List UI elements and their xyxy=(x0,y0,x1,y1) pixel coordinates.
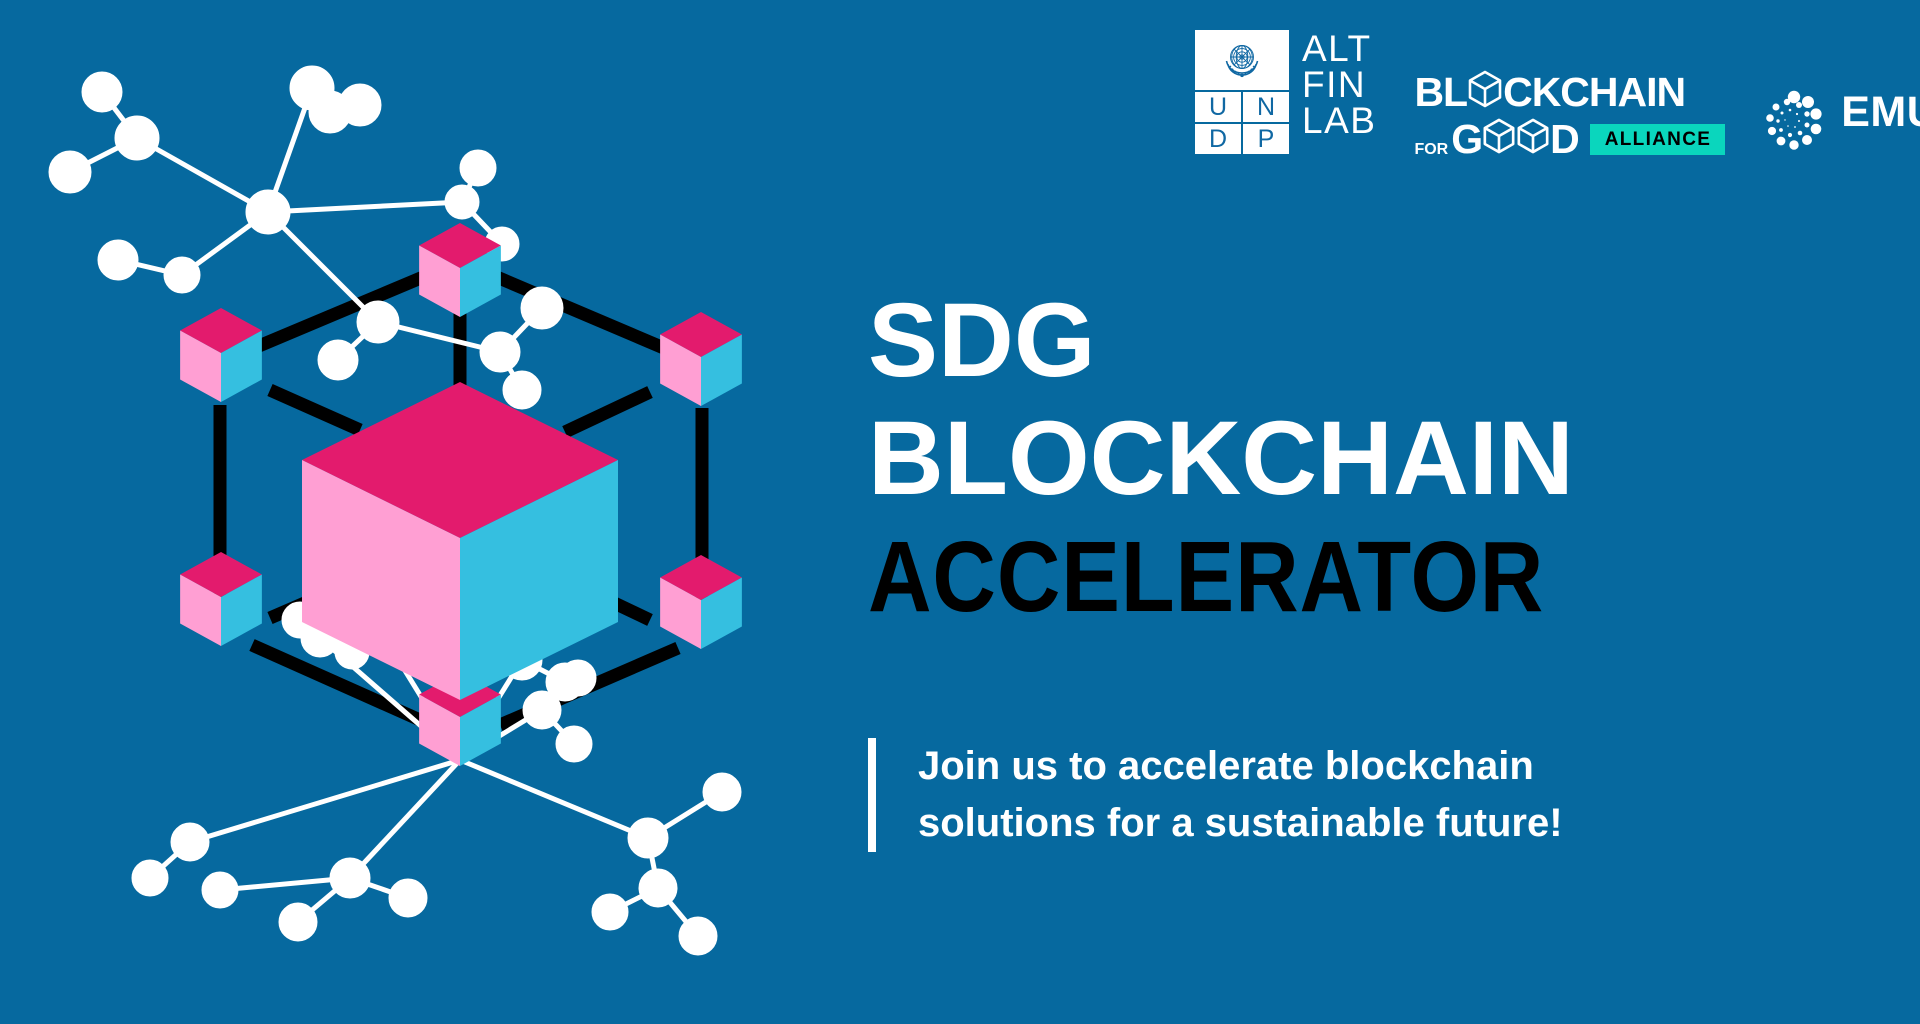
poster-canvas: U N D P ALT FIN LAB BL xyxy=(0,0,1920,1024)
tagline-text: Join us to accelerate blockchain solutio… xyxy=(918,738,1718,852)
undp-letter-d: D xyxy=(1195,124,1241,154)
un-emblem-icon xyxy=(1220,38,1264,82)
cube-upper-right xyxy=(660,312,742,406)
bfg-text-bl: BL xyxy=(1414,72,1467,113)
wordmark-alt: ALT xyxy=(1302,31,1376,67)
wordmark-fin: FIN xyxy=(1302,67,1376,103)
undp-alt-fin-lab-logo[interactable]: U N D P ALT FIN LAB xyxy=(1195,30,1376,154)
bfg-line-blockchain: BL CKCHAIN xyxy=(1414,70,1725,114)
blockchain-for-good-alliance-logo[interactable]: BL CKCHAIN FOR G xyxy=(1414,30,1725,162)
tagline-block: Join us to accelerate blockchain solutio… xyxy=(868,738,1718,852)
emurgo-wordmark: EMURGO LABS xyxy=(1841,92,1920,155)
undp-letter-u: U xyxy=(1195,92,1241,122)
cube-outline-icon-o1 xyxy=(1467,69,1503,116)
headline-line-blockchain: BLOCKCHAIN xyxy=(868,400,1868,518)
undp-mark: U N D P xyxy=(1195,30,1289,154)
un-emblem xyxy=(1195,30,1289,90)
blockchain-illustration-svg xyxy=(30,60,810,980)
bfg-text-for: FOR xyxy=(1414,142,1448,162)
cube-lower-left xyxy=(180,552,262,646)
wordmark-lab: LAB xyxy=(1302,103,1376,139)
bfg-text-d: D xyxy=(1550,119,1579,160)
cube-outline-icon-o3 xyxy=(1516,117,1550,162)
bfg-line-for-good: FOR G xyxy=(1414,116,1725,162)
tagline-accent-bar xyxy=(868,738,876,852)
network-cluster-center-right xyxy=(482,289,561,407)
undp-letter-p: P xyxy=(1243,124,1289,154)
undp-letter-n: N xyxy=(1243,92,1289,122)
emurgo-spiral-icon xyxy=(1763,90,1825,157)
headline-line-sdg: SDG xyxy=(868,282,1868,400)
partner-logo-bar: U N D P ALT FIN LAB BL xyxy=(1195,30,1920,170)
cube-lower-right xyxy=(660,555,742,649)
hero-headline-block: SDG BLOCKCHAIN ACCELERATOR xyxy=(868,282,1868,633)
isometric-blockchain-network-graphic xyxy=(30,60,810,980)
alliance-badge: ALLIANCE xyxy=(1590,124,1725,155)
alt-fin-lab-wordmark: ALT FIN LAB xyxy=(1302,30,1376,139)
bfg-text-ckchain: CKCHAIN xyxy=(1503,72,1685,113)
headline-line-accelerator: ACCELERATOR xyxy=(868,521,1748,633)
emurgo-labs-logo[interactable]: EMURGO LABS xyxy=(1763,30,1920,157)
emurgo-text-main: EMURGO xyxy=(1841,92,1920,133)
bfg-text-g: G xyxy=(1451,119,1482,160)
cube-upper-left xyxy=(180,308,262,402)
cube-outline-icon-o2 xyxy=(1482,117,1516,162)
